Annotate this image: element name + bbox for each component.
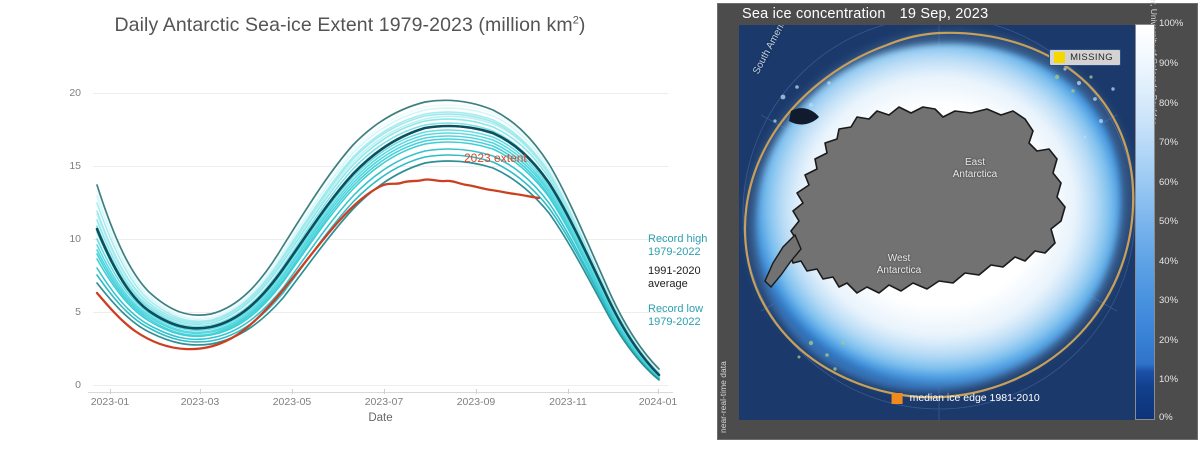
chart-title: Daily Antarctic Sea-ice Extent 1979-2023… xyxy=(0,14,700,37)
xtick-mark-1 xyxy=(110,389,111,394)
annotation-average-line1: 1991-2020 xyxy=(648,265,701,278)
xtick-2023-03: 2023-03 xyxy=(160,396,240,408)
colorbar-tick-100: 100% xyxy=(1159,18,1183,29)
annotation-record-low-line1: Record low xyxy=(648,303,703,316)
xtick-2023-05: 2023-05 xyxy=(252,396,332,408)
xtick-mark-6 xyxy=(568,389,569,394)
colorbar-tick-80: 80% xyxy=(1159,98,1178,109)
xtick-mark-3 xyxy=(292,389,293,394)
map-label-west-antarctica: West Antarctica xyxy=(859,253,939,276)
x-axis-line xyxy=(88,392,673,393)
colorbar-tick-0: 0% xyxy=(1159,412,1173,423)
colorbar-tick-90: 90% xyxy=(1159,58,1178,69)
median-ice-edge-legend-label: median ice edge 1981-2010 xyxy=(910,392,1040,404)
map-credit-left: near-real-time data xyxy=(718,361,728,433)
missing-legend[interactable]: MISSING xyxy=(1049,49,1121,66)
ytick-5: 5 xyxy=(47,306,81,318)
colorbar-gradient-layer xyxy=(1135,24,1155,420)
xtick-mark-2 xyxy=(200,389,201,394)
xtick-mark-4 xyxy=(384,389,385,394)
xtick-2023-09: 2023-09 xyxy=(436,396,516,408)
colorbar-tick-10: 10% xyxy=(1159,374,1178,385)
sea-ice-map-panel: Sea ice concentration19 Sep, 2023 Nation… xyxy=(717,3,1198,440)
sea-ice-extent-chart-panel: Daily Antarctic Sea-ice Extent 1979-2023… xyxy=(0,0,715,457)
annotation-record-high: Record high 1979-2022 xyxy=(648,233,707,258)
annotation-record-low: Record low 1979-2022 xyxy=(648,303,703,328)
xtick-2023-01: 2023-01 xyxy=(70,396,150,408)
plot-area xyxy=(93,93,668,385)
concentration-colorbar: 100% 90% 80% 70% 60% 50% 40% 30% 20% 10%… xyxy=(1135,24,1155,420)
screenshot-root: Daily Antarctic Sea-ice Extent 1979-2023… xyxy=(0,0,1200,457)
annotation-record-low-line2: 1979-2022 xyxy=(648,316,703,329)
annotation-record-high-line2: 1979-2022 xyxy=(648,246,707,259)
record-low-line xyxy=(97,161,659,380)
map-title-date: 19 Sep, 2023 xyxy=(900,6,989,22)
annotation-average: 1991-2020 average xyxy=(648,265,701,290)
ytick-0: 0 xyxy=(47,379,81,391)
colorbar-tick-20: 20% xyxy=(1159,335,1178,346)
ytick-20: 20 xyxy=(47,87,81,99)
missing-color-swatch xyxy=(1054,52,1065,63)
xtick-2024-01: 2024-01 xyxy=(618,396,698,408)
xtick-2023-07: 2023-07 xyxy=(344,396,424,408)
colorbar-tick-40: 40% xyxy=(1159,256,1178,267)
ytick-10: 10 xyxy=(47,233,81,245)
annotation-average-line2: average xyxy=(648,278,701,291)
x-axis-label: Date xyxy=(93,412,668,424)
xtick-mark-5 xyxy=(476,389,477,394)
xtick-mark-7 xyxy=(658,389,659,394)
map-title-main: Sea ice concentration xyxy=(742,6,886,22)
annotation-2023-extent: 2023 extent xyxy=(464,151,527,165)
missing-legend-label: MISSING xyxy=(1070,52,1113,63)
antarctic-map-svg xyxy=(739,25,1139,420)
map-canvas[interactable]: South America East Antarctica West Antar… xyxy=(739,25,1139,420)
median-ice-edge-swatch xyxy=(892,393,903,404)
extent-curves-svg xyxy=(93,93,668,385)
map-label-east-antarctica: East Antarctica xyxy=(935,157,1015,180)
median-ice-edge-legend[interactable]: median ice edge 1981-2010 xyxy=(892,392,1040,404)
colorbar-tick-70: 70% xyxy=(1159,137,1178,148)
map-title: Sea ice concentration19 Sep, 2023 xyxy=(742,6,988,22)
colorbar-tick-50: 50% xyxy=(1159,216,1178,227)
colorbar-tick-60: 60% xyxy=(1159,177,1178,188)
colorbar-tick-30: 30% xyxy=(1159,295,1178,306)
ytick-15: 15 xyxy=(47,160,81,172)
annotation-record-high-line1: Record high xyxy=(648,233,707,246)
xtick-2023-11: 2023-11 xyxy=(528,396,608,408)
ensemble-lines xyxy=(97,105,659,379)
gridline-0 xyxy=(93,385,668,386)
